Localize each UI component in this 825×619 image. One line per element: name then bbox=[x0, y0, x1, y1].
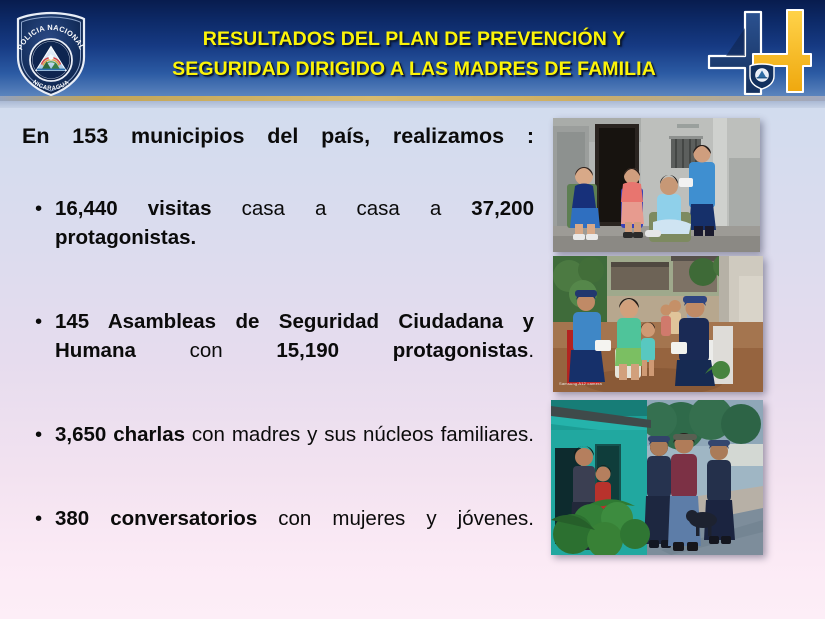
bullet-marker: • bbox=[35, 504, 42, 533]
title-line-2: SEGURIDAD DIRIGIDO A LAS MADRES DE FAMIL… bbox=[128, 54, 700, 84]
intro-paragraph: En 153 municipios del país, realizamos : bbox=[22, 122, 534, 180]
slide-body: En 153 municipios del país, realizamos :… bbox=[22, 122, 534, 588]
justify-filler bbox=[55, 255, 534, 278]
bullet-emphasis: 15,190 protagonistas bbox=[276, 339, 528, 362]
justify-filler bbox=[55, 536, 534, 559]
camera-watermark: Samsung A12 camera bbox=[559, 381, 602, 386]
44-anniversary-logo bbox=[701, 4, 819, 96]
bullet-list: •16,440 visitas casa a casa a 37,200 pro… bbox=[22, 194, 534, 562]
title-line-1: RESULTADOS DEL PLAN DE PREVENCIÓN Y bbox=[128, 24, 700, 54]
bullet-text: con bbox=[190, 339, 277, 362]
bullet-asambleas: •145 Asambleas de Seguridad Ciudadana y … bbox=[22, 307, 534, 394]
photo-asamblea-comunitaria: Samsung A12 camera bbox=[553, 256, 763, 392]
bullet-text: . bbox=[528, 339, 534, 362]
bullet-text: con madres y sus núcleos familiares. bbox=[192, 423, 534, 446]
photo-patrullaje-calle bbox=[551, 400, 763, 555]
photo-visita-casa-a-casa bbox=[553, 118, 760, 252]
bullet-emphasis: 3,650 charlas bbox=[55, 423, 192, 446]
bullet-visitas: •16,440 visitas casa a casa a 37,200 pro… bbox=[22, 194, 534, 281]
slide-header: POLICIA NACIONAL NICARAGUA bbox=[0, 0, 825, 96]
small-badge-emblem bbox=[750, 64, 774, 89]
slide-title: RESULTADOS DEL PLAN DE PREVENCIÓN Y SEGU… bbox=[128, 24, 700, 84]
bullet-charlas: •3,650 charlas con madres y sus núcleos … bbox=[22, 420, 534, 478]
bullet-text: con mujeres y jóvenes. bbox=[278, 507, 534, 530]
bullet-marker: • bbox=[35, 307, 42, 336]
justify-filler bbox=[55, 368, 534, 391]
header-divider-shadow bbox=[0, 101, 825, 108]
bullet-marker: • bbox=[35, 420, 42, 449]
bullet-marker: • bbox=[35, 194, 42, 223]
policia-nacional-badge: POLICIA NACIONAL NICARAGUA bbox=[8, 10, 94, 96]
justify-filler bbox=[55, 452, 534, 475]
bullet-emphasis: 16,440 visitas bbox=[55, 197, 242, 220]
bullet-conversatorios: •380 conversatorios con mujeres y jóvene… bbox=[22, 504, 534, 562]
bullet-text: casa a casa a bbox=[242, 197, 472, 220]
bullet-emphasis: 380 conversatorios bbox=[55, 507, 278, 530]
